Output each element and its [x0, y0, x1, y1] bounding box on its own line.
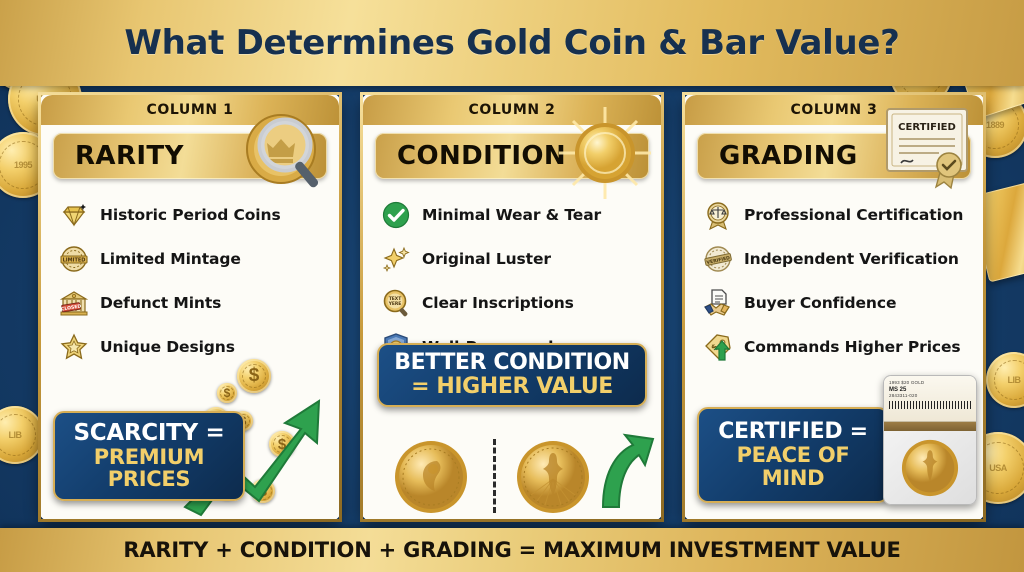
column-card-rarity[interactable]: COLUMN 1 RARITY [38, 92, 342, 522]
list-item[interactable]: CLOSED Defunct Mints [59, 281, 329, 325]
list-item-label: Professional Certification [744, 206, 963, 224]
list-item-label: Historic Period Coins [100, 206, 281, 224]
liberty-coin-image [393, 439, 469, 515]
banner-line-3: PRICES [108, 468, 190, 491]
slab-line-1: 1993 $20 GOLD [889, 380, 971, 385]
list-item-label: Limited Mintage [100, 250, 241, 268]
closed-bank-icon: CLOSED [59, 288, 89, 318]
banner-line-2: PEACE OF [737, 444, 850, 467]
slab-barcode [889, 401, 971, 409]
column-eyebrow: COLUMN 1 [146, 102, 233, 118]
column-card-condition[interactable]: COLUMN 2 CONDITION [360, 92, 664, 522]
list-item-label: Buyer Confidence [744, 294, 896, 312]
slab-line-3: 2843311-020 [889, 393, 971, 398]
verified-stamp-icon: VERIFIED [703, 244, 733, 274]
list-item-label: Clear Inscriptions [422, 294, 574, 312]
banner-line-1: CERTIFIED = [718, 420, 868, 444]
highlight-banner-scarcity: SCARCITY = PREMIUM PRICES [53, 411, 245, 501]
list-item[interactable]: VERIFIED Independent Verification [703, 237, 973, 281]
price-tag-up-arrow-icon: $ [703, 332, 733, 362]
green-check-icon [381, 200, 411, 230]
column-eyebrow: COLUMN 2 [468, 102, 555, 118]
columns-container: COLUMN 1 RARITY [0, 92, 1024, 520]
header-banner: What Determines Gold Coin & Bar Value? [0, 0, 1024, 86]
svg-text:YERE: YERE [388, 301, 402, 307]
list-item-label: Unique Designs [100, 338, 235, 356]
magnifier-text-icon: TEXT YERE [381, 288, 411, 318]
list-item[interactable]: TEXT YERE Clear Inscriptions [381, 281, 651, 325]
eagle-coin-image [515, 439, 591, 515]
green-up-arrow-icon [589, 423, 659, 513]
list-item[interactable]: LIMITED Limited Mintage [59, 237, 329, 281]
feature-list: Professional Certification VERIFIED Inde… [685, 193, 983, 369]
star-icon [59, 332, 89, 362]
footer-text: RARITY + CONDITION + GRADING = MAXIMUM I… [123, 538, 900, 562]
column-title: CONDITION [397, 141, 566, 171]
highlight-banner-condition: BETTER CONDITION = HIGHER VALUE [377, 343, 647, 407]
shiny-gold-coin-icon [557, 105, 653, 201]
list-item[interactable]: Original Luster [381, 237, 651, 281]
list-item-label: Commands Higher Prices [744, 338, 961, 356]
banner-line-2: PREMIUM [94, 446, 204, 469]
list-item[interactable]: Buyer Confidence [703, 281, 973, 325]
comparison-divider [493, 439, 496, 513]
infographic-poster: LIBERTY 1889 USA 1995 LIB USA LIB 1889 L… [0, 0, 1024, 572]
svg-text:LIMITED: LIMITED [63, 257, 86, 263]
list-item[interactable]: Professional Certification [703, 193, 973, 237]
slab-coin [901, 439, 959, 497]
column-eyebrow: COLUMN 3 [790, 102, 877, 118]
limited-badge-icon: LIMITED [59, 244, 89, 274]
column-card-grading[interactable]: COLUMN 3 GRADING CERTIFIED [682, 92, 986, 522]
slab-strip [884, 422, 976, 431]
list-item-label: Minimal Wear & Tear [422, 206, 601, 224]
highlight-banner-certified: CERTIFIED = PEACE OF MIND [697, 407, 889, 503]
list-item[interactable]: $ Commands Higher Prices [703, 325, 973, 369]
page-title: What Determines Gold Coin & Bar Value? [124, 23, 899, 63]
banner-line-1: BETTER CONDITION [394, 351, 630, 375]
scales-award-icon [703, 200, 733, 230]
handshake-document-icon [703, 288, 733, 318]
magnifier-crown-coin-icon [241, 109, 333, 201]
banner-line-1: SCARCITY = [73, 421, 224, 446]
banner-line-2: = HIGHER VALUE [411, 375, 613, 399]
list-item-label: Independent Verification [744, 250, 959, 268]
footer-banner: RARITY + CONDITION + GRADING = MAXIMUM I… [0, 528, 1024, 572]
list-item-label: Defunct Mints [100, 294, 221, 312]
column-title: RARITY [75, 141, 184, 171]
banner-line-3: MIND [762, 467, 825, 490]
feature-list: Historic Period Coins LIMITED Limited Mi… [41, 193, 339, 369]
list-item-label: Original Luster [422, 250, 551, 268]
column-title: GRADING [719, 141, 858, 171]
certified-certificate-icon: CERTIFIED [881, 103, 979, 197]
diamond-icon [59, 200, 89, 230]
sparkle-icon [381, 244, 411, 274]
svg-text:CERTIFIED: CERTIFIED [898, 122, 956, 133]
graded-coin-slab: 1993 $20 GOLD MS 25 2843311-020 [883, 375, 977, 505]
list-item[interactable]: Unique Designs [59, 325, 329, 369]
